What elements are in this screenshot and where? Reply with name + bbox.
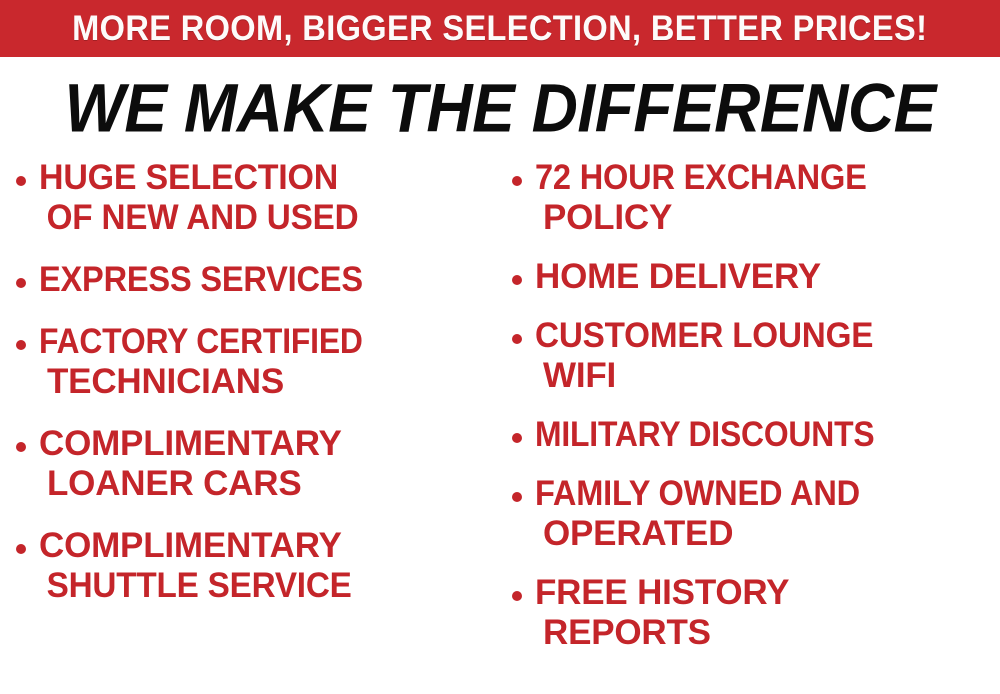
- benefit-line: OF NEW AND USED: [39, 198, 471, 238]
- benefit-line: REPORTS: [535, 613, 1000, 653]
- benefit-line: HUGE SELECTION: [39, 158, 480, 198]
- bullet-dot-icon: [512, 433, 522, 443]
- benefit-line: COMPLIMENTARY: [39, 424, 494, 464]
- page-title: WE MAKE THE DIFFERENCE: [64, 72, 935, 143]
- benefit-line: HOME DELIVERY: [535, 257, 1000, 297]
- benefits-column-left: HUGE SELECTIONOF NEW AND USEDEXPRESS SER…: [16, 158, 494, 694]
- benefit-line: LOANER CARS: [39, 464, 494, 504]
- benefits-columns: HUGE SELECTIONOF NEW AND USEDEXPRESS SER…: [0, 158, 1000, 694]
- benefit-text: EXPRESS SERVICES: [39, 260, 494, 300]
- bullet-dot-icon: [16, 442, 26, 452]
- benefit-line: OPERATED: [535, 514, 1000, 554]
- promo-poster: MORE ROOM, BIGGER SELECTION, BETTER PRIC…: [0, 0, 1000, 694]
- benefit-item: CUSTOMER LOUNGEWIFI: [512, 316, 1000, 396]
- benefits-column-right: 72 HOUR EXCHANGEPOLICYHOME DELIVERYCUSTO…: [512, 158, 1000, 694]
- benefit-line: CUSTOMER LOUNGE: [535, 316, 977, 356]
- top-banner: MORE ROOM, BIGGER SELECTION, BETTER PRIC…: [0, 0, 1000, 57]
- benefit-text: HUGE SELECTIONOF NEW AND USED: [39, 158, 494, 238]
- banner-headline: MORE ROOM, BIGGER SELECTION, BETTER PRIC…: [72, 11, 927, 47]
- benefit-item: FAMILY OWNED ANDOPERATED: [512, 474, 1000, 554]
- benefit-text: FACTORY CERTIFIEDTECHNICIANS: [39, 322, 494, 402]
- benefit-line: SHUTTLE SERVICE: [39, 566, 471, 606]
- benefit-item: FACTORY CERTIFIEDTECHNICIANS: [16, 322, 494, 402]
- bullet-dot-icon: [512, 275, 522, 285]
- benefit-line: WIFI: [535, 356, 1000, 396]
- benefit-line: COMPLIMENTARY: [39, 526, 494, 566]
- benefit-text: COMPLIMENTARYLOANER CARS: [39, 424, 494, 504]
- benefit-line: FREE HISTORY: [535, 573, 1000, 613]
- benefit-item: HUGE SELECTIONOF NEW AND USED: [16, 158, 494, 238]
- benefit-line: POLICY: [535, 198, 1000, 238]
- bullet-dot-icon: [512, 334, 522, 344]
- benefit-item: MILITARY DISCOUNTS: [512, 415, 1000, 455]
- bullet-dot-icon: [512, 492, 522, 502]
- benefit-item: EXPRESS SERVICES: [16, 260, 494, 300]
- benefit-line: FAMILY OWNED AND: [535, 474, 967, 514]
- bullet-dot-icon: [16, 278, 26, 288]
- bullet-dot-icon: [16, 340, 26, 350]
- benefit-item: 72 HOUR EXCHANGEPOLICY: [512, 158, 1000, 238]
- benefit-text: COMPLIMENTARYSHUTTLE SERVICE: [39, 526, 494, 606]
- benefit-line: 72 HOUR EXCHANGE: [535, 158, 967, 198]
- benefit-line: MILITARY DISCOUNTS: [535, 415, 958, 455]
- benefit-line: FACTORY CERTIFIED: [39, 322, 453, 362]
- benefit-item: COMPLIMENTARYLOANER CARS: [16, 424, 494, 504]
- benefit-text: HOME DELIVERY: [535, 257, 1000, 297]
- bullet-dot-icon: [16, 176, 26, 186]
- benefit-item: COMPLIMENTARYSHUTTLE SERVICE: [16, 526, 494, 606]
- bullet-dot-icon: [512, 591, 522, 601]
- benefit-item: HOME DELIVERY: [512, 257, 1000, 297]
- benefit-line: EXPRESS SERVICES: [39, 260, 462, 300]
- headline-row: WE MAKE THE DIFFERENCE: [0, 72, 1000, 140]
- bullet-dot-icon: [16, 544, 26, 554]
- benefit-text: FAMILY OWNED ANDOPERATED: [535, 474, 1000, 554]
- benefit-text: 72 HOUR EXCHANGEPOLICY: [535, 158, 1000, 238]
- benefit-item: FREE HISTORYREPORTS: [512, 573, 1000, 653]
- bullet-dot-icon: [512, 176, 522, 186]
- benefit-line: TECHNICIANS: [39, 362, 494, 402]
- benefit-text: FREE HISTORYREPORTS: [535, 573, 1000, 653]
- benefit-text: CUSTOMER LOUNGEWIFI: [535, 316, 1000, 396]
- benefit-text: MILITARY DISCOUNTS: [535, 415, 1000, 455]
